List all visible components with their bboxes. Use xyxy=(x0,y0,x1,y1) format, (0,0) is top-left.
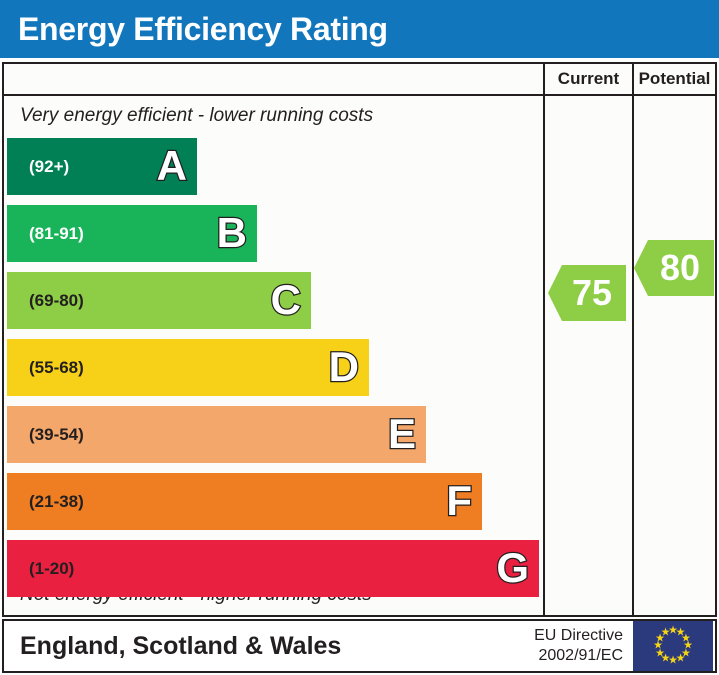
eu-flag-icon: ★★★★★★★★★★★★ xyxy=(633,621,713,671)
band-range-g: (1-20) xyxy=(7,559,74,579)
caption-efficient: Very energy efficient - lower running co… xyxy=(4,96,543,136)
band-letter-c: C xyxy=(271,279,301,321)
band-letter-g: G xyxy=(496,547,529,589)
potential-rating-value: 80 xyxy=(660,250,700,286)
directive-line-2: 2002/91/EC xyxy=(534,646,623,666)
band-letter-f: F xyxy=(446,480,472,522)
band-range-f: (21-38) xyxy=(7,492,84,512)
rating-table: Current Potential Very energy efficient … xyxy=(2,62,717,617)
footer-bar: England, Scotland & Wales EU Directive 2… xyxy=(2,619,717,673)
column-separator-1 xyxy=(543,64,545,615)
table-header-row: Current Potential xyxy=(4,64,715,96)
band-bar-f: (21-38) F xyxy=(7,473,482,530)
band-letter-e: E xyxy=(388,413,416,455)
column-header-potential: Potential xyxy=(634,64,715,94)
band-bar-c: (69-80) C xyxy=(7,272,311,329)
band-letter-d: D xyxy=(329,346,359,388)
column-separator-2 xyxy=(632,64,634,615)
band-bar-a: (92+) A xyxy=(7,138,197,195)
band-range-e: (39-54) xyxy=(7,425,84,445)
band-range-c: (69-80) xyxy=(7,291,84,311)
footer-directive: EU Directive 2002/91/EC xyxy=(534,626,633,666)
directive-line-1: EU Directive xyxy=(534,626,623,646)
current-rating-marker: 75 xyxy=(548,265,626,321)
title-bar: Energy Efficiency Rating xyxy=(0,0,719,58)
band-bars: (92+) A (81-91) B (69-80) C (55-68) D (3… xyxy=(4,138,543,575)
eu-star-icon: ★ xyxy=(661,628,671,639)
column-header-current: Current xyxy=(545,64,632,94)
band-range-b: (81-91) xyxy=(7,224,84,244)
potential-rating-marker: 80 xyxy=(634,240,714,296)
band-bar-g: (1-20) G xyxy=(7,540,539,597)
band-bar-b: (81-91) B xyxy=(7,205,257,262)
band-letter-b: B xyxy=(217,212,247,254)
footer-region-label: England, Scotland & Wales xyxy=(4,632,534,661)
band-bar-d: (55-68) D xyxy=(7,339,369,396)
band-bar-e: (39-54) E xyxy=(7,406,426,463)
epc-certificate: Energy Efficiency Rating Current Potenti… xyxy=(0,0,719,675)
band-range-a: (92+) xyxy=(7,157,69,177)
band-letter-a: A xyxy=(157,145,187,187)
page-title: Energy Efficiency Rating xyxy=(0,11,388,48)
current-rating-value: 75 xyxy=(572,275,612,311)
band-range-d: (55-68) xyxy=(7,358,84,378)
